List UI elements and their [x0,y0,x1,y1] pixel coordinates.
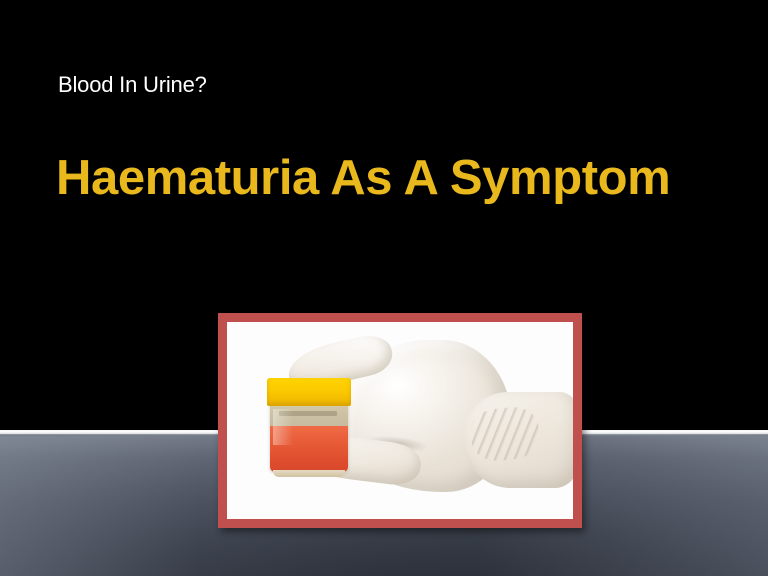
cup-highlight [273,409,293,445]
slide-subtitle: Blood In Urine? [58,72,207,98]
cup-bottom-edge [273,470,345,477]
photo-inner-mat [227,322,573,519]
presentation-slide: Blood In Urine? Haematuria As A Symptom [0,0,768,576]
slide-title: Haematuria As A Symptom [56,150,670,206]
cup-yellow-cap [267,378,351,406]
photo-frame [218,313,582,528]
urine-specimen-cup [267,378,353,474]
urine-sample-photo [227,322,573,519]
